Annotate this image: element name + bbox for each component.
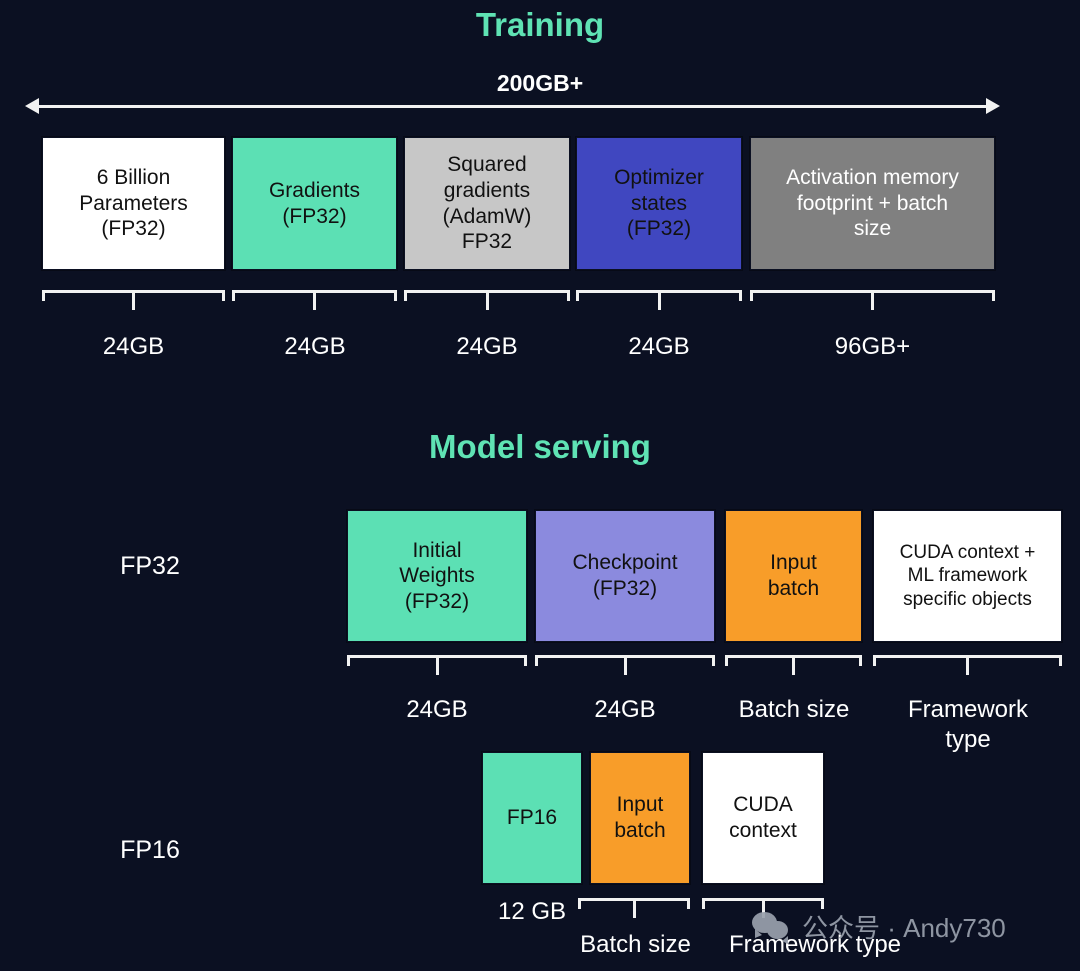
- training-bracket-gradients: [232, 290, 397, 312]
- training-block-activation-memory-line-3: size: [786, 216, 959, 242]
- serving-fp32-initial-weights-line-3: (FP32): [399, 589, 474, 615]
- serving-fp16-weights-line-1: FP16: [507, 805, 557, 831]
- training-block-activation-memory-line-1: Activation memory: [786, 165, 959, 191]
- serving-fp32-bracket-input-batch: [725, 655, 862, 677]
- watermark: 公众号 · Andy730: [752, 908, 1006, 945]
- arrow-right-head-icon: [986, 98, 1000, 114]
- serving-fp16-input-batch-line-1: Input: [614, 792, 665, 818]
- training-block-optimizer-states-line-3: (FP32): [614, 216, 704, 242]
- training-block-activation-memory: Activation memory footprint + batch size: [750, 137, 995, 270]
- serving-fp32-bracket-initial-weights: [347, 655, 527, 677]
- training-block-squared-gradients-line-3: (AdamW): [443, 204, 532, 230]
- training-block-squared-gradients-line-2: gradients: [443, 178, 532, 204]
- training-block-parameters-line-1: 6 Billion: [79, 165, 188, 191]
- training-block-squared-gradients: Squared gradients (AdamW) FP32: [404, 137, 570, 270]
- training-section-title: Training: [0, 6, 1080, 44]
- serving-fp32-size-initial-weights: 24GB: [337, 695, 537, 725]
- serving-fp32-size-checkpoint: 24GB: [525, 695, 725, 725]
- serving-fp32-cuda-context-line-1: CUDA context +: [900, 541, 1036, 564]
- arrow-shaft: [35, 105, 990, 108]
- serving-fp32-block-cuda-context: CUDA context + ML framework specific obj…: [873, 510, 1062, 642]
- serving-row-label-fp16: FP16: [60, 836, 240, 865]
- serving-fp32-cuda-context-line-3: specific objects: [900, 588, 1036, 611]
- training-block-squared-gradients-line-1: Squared: [443, 152, 532, 178]
- training-block-optimizer-states: Optimizer states (FP32): [576, 137, 742, 270]
- serving-fp32-input-batch-line-2: batch: [768, 576, 819, 602]
- serving-fp32-size-cuda-context: Framework type: [893, 695, 1043, 755]
- training-block-parameters-line-3: (FP32): [79, 216, 188, 242]
- training-block-parameters-line-2: Parameters: [79, 191, 188, 217]
- training-bracket-activation-memory: [750, 290, 995, 312]
- training-bracket-parameters: [42, 290, 225, 312]
- training-block-gradients-line-2: (FP32): [269, 204, 360, 230]
- serving-fp16-cuda-context-line-2: context: [729, 818, 797, 844]
- serving-fp32-cuda-context-line-2: ML framework: [900, 564, 1036, 587]
- serving-fp32-initial-weights-line-2: Weights: [399, 563, 474, 589]
- serving-fp16-input-batch-line-2: batch: [614, 818, 665, 844]
- serving-row-label-fp32: FP32: [60, 552, 240, 581]
- serving-fp32-checkpoint-line-2: (FP32): [572, 576, 677, 602]
- training-block-squared-gradients-line-4: FP32: [443, 229, 532, 255]
- serving-fp32-bracket-checkpoint: [535, 655, 715, 677]
- training-size-activation-memory: 96GB+: [750, 332, 995, 362]
- serving-fp32-input-batch-line-1: Input: [768, 550, 819, 576]
- training-block-gradients-line-1: Gradients: [269, 178, 360, 204]
- training-block-parameters: 6 Billion Parameters (FP32): [42, 137, 225, 270]
- serving-fp32-block-input-batch: Input batch: [725, 510, 862, 642]
- watermark-text: 公众号 · Andy730: [802, 908, 1006, 945]
- serving-fp32-bracket-cuda-context: [873, 655, 1062, 677]
- training-size-squared-gradients: 24GB: [387, 332, 587, 362]
- wechat-icon: [752, 912, 792, 942]
- diagram-canvas: Training 200GB+ 6 Billion Parameters (FP…: [0, 0, 1080, 971]
- serving-fp16-block-weights: FP16: [482, 752, 582, 884]
- training-bracket-squared-gradients: [404, 290, 570, 312]
- training-size-gradients: 24GB: [215, 332, 415, 362]
- training-block-activation-memory-line-2: footprint + batch: [786, 191, 959, 217]
- serving-fp16-size-weights: 12 GB: [470, 897, 594, 927]
- serving-fp32-size-input-batch: Batch size: [703, 695, 885, 725]
- serving-fp16-bracket-input-batch: [578, 898, 690, 920]
- training-bracket-optimizer-states: [576, 290, 742, 312]
- training-size-optimizer-states: 24GB: [559, 332, 759, 362]
- serving-fp32-initial-weights-line-1: Initial: [399, 538, 474, 564]
- serving-fp16-cuda-context-line-1: CUDA: [729, 792, 797, 818]
- training-total-arrow: [25, 96, 1000, 116]
- training-block-optimizer-states-line-1: Optimizer: [614, 165, 704, 191]
- training-block-optimizer-states-line-2: states: [614, 191, 704, 217]
- serving-fp16-block-cuda-context: CUDA context: [702, 752, 824, 884]
- training-total-label: 200GB+: [0, 70, 1080, 97]
- serving-section-title: Model serving: [0, 428, 1080, 466]
- serving-fp32-block-initial-weights: Initial Weights (FP32): [347, 510, 527, 642]
- training-size-parameters: 24GB: [42, 332, 225, 362]
- serving-fp32-checkpoint-line-1: Checkpoint: [572, 550, 677, 576]
- serving-fp32-block-checkpoint: Checkpoint (FP32): [535, 510, 715, 642]
- serving-fp16-block-input-batch: Input batch: [590, 752, 690, 884]
- training-block-gradients: Gradients (FP32): [232, 137, 397, 270]
